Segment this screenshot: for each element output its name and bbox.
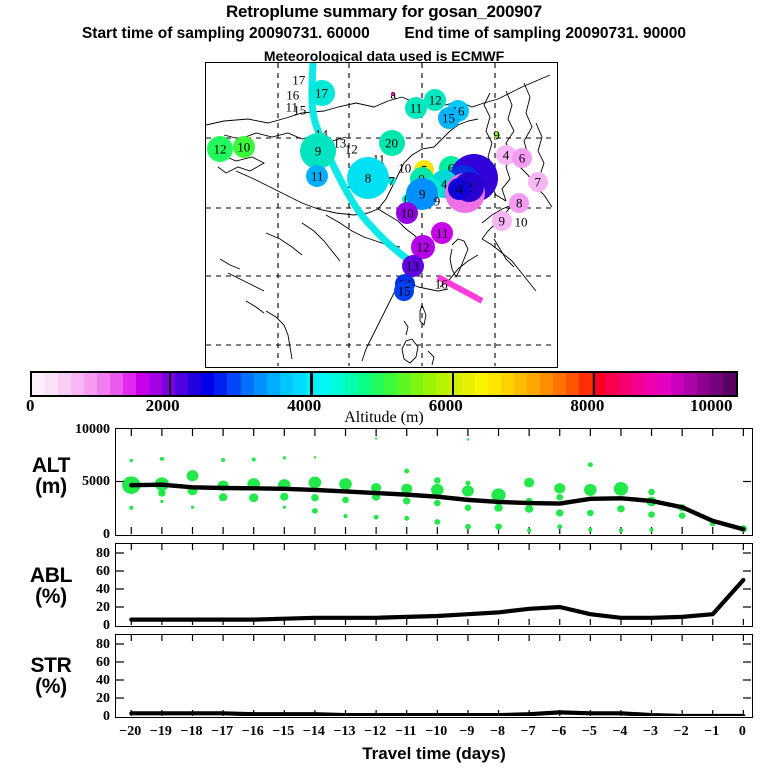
colorbar-title: Altitude (m) [0, 409, 768, 427]
map-marker-label: 4 [503, 149, 510, 162]
colorbar-swatch [110, 373, 123, 395]
map-marker-label: 17 [292, 73, 305, 86]
x-tick-label: −8 [490, 724, 505, 740]
x-tick-label: −2 [674, 724, 689, 740]
colorbar-swatch [267, 373, 280, 395]
map-marker-label: 9 [315, 144, 322, 157]
map-marker-label: a [390, 88, 396, 101]
colorbar-swatch [488, 373, 501, 395]
colorbar-swatch [71, 373, 84, 395]
colorbar-swatch [332, 373, 345, 395]
colorbar-swatch [644, 373, 657, 395]
colorbar-swatch [97, 373, 110, 395]
x-tick-label: −6 [551, 724, 566, 740]
colorbar-swatch [123, 373, 136, 395]
colorbar-swatch [397, 373, 410, 395]
map-marker-label: 9 [419, 187, 426, 200]
x-tick-label: −19 [150, 724, 172, 740]
str-plot-svg [116, 635, 751, 716]
colorbar-swatch [697, 373, 710, 395]
colorbar-swatch [710, 373, 723, 395]
str-y-tick-label: 60 [96, 655, 110, 671]
colorbar-swatch [84, 373, 97, 395]
map-marker-label: 15 [398, 284, 411, 297]
alt-y-tick-label: 0 [103, 527, 110, 543]
abl-y-tick-label: 80 [96, 546, 110, 562]
abl-y-tick-label: 20 [96, 600, 110, 616]
map-marker-label: 11 [410, 101, 423, 114]
colorbar-swatch [436, 373, 449, 395]
x-tick-label: −12 [364, 724, 386, 740]
colorbar-swatch [658, 373, 671, 395]
colorbar-swatch [514, 373, 527, 395]
x-tick-label: −3 [643, 724, 658, 740]
abl-plot-panel[interactable] [115, 543, 753, 627]
colorbar-swatch [605, 373, 618, 395]
colorbar-swatch [45, 373, 58, 395]
map-marker-label: 10 [237, 140, 250, 153]
map-marker-label: 7 [535, 175, 542, 188]
colorbar-swatch [175, 373, 188, 395]
colorbar-swatch [631, 373, 644, 395]
map-marker-label: 10 [515, 216, 528, 229]
x-tick-label: −14 [303, 724, 325, 740]
colorbar-swatch [136, 373, 149, 395]
str-y-tick-label: 20 [96, 691, 110, 707]
colorbar-swatch [371, 373, 384, 395]
colorbar-swatch [280, 373, 293, 395]
colorbar-swatch [566, 373, 579, 395]
colorbar-swatch [553, 373, 566, 395]
colorbar-swatch [319, 373, 332, 395]
str-y-tick-label: 80 [96, 637, 110, 653]
colorbar-swatch [293, 373, 306, 395]
map-marker-label: 12 [417, 241, 430, 254]
colorbar-divider [593, 371, 595, 397]
colorbar-swatch [214, 373, 227, 395]
colorbar-divider [169, 371, 171, 397]
map-marker-label: 16 [435, 278, 448, 291]
map-marker-label: 8 [516, 197, 523, 210]
colorbar-swatch [671, 373, 684, 395]
x-tick-label: −20 [119, 724, 141, 740]
map-marker-label: 4 [456, 182, 463, 195]
alt-plot-panel[interactable] [115, 428, 753, 536]
colorbar-divider [452, 371, 454, 397]
colorbar-swatch [723, 373, 736, 395]
colorbar-swatch [254, 373, 267, 395]
colorbar-swatch [345, 373, 358, 395]
colorbar-gradient [30, 371, 738, 397]
colorbar-swatch [410, 373, 423, 395]
map-marker-label: 12 [214, 142, 227, 155]
map-marker-label: 9 [499, 214, 506, 227]
alt-y-tick-label: 5000 [82, 474, 110, 490]
page-title: Retroplume summary for gosan_200907 [0, 2, 768, 22]
x-tick-label: −4 [612, 724, 627, 740]
x-tick-label: −18 [181, 724, 203, 740]
map-marker-label: 7 [388, 175, 395, 188]
sampling-time-row: Start time of sampling 20090731. 60000 E… [0, 25, 768, 43]
altitude-colorbar[interactable] [30, 371, 738, 397]
map-marker-label: 20 [385, 137, 398, 150]
str-plot-panel[interactable] [115, 634, 753, 718]
map-marker-label: 11 [311, 169, 324, 182]
x-tick-label: −10 [425, 724, 447, 740]
map-marker-label: 8 [365, 171, 372, 184]
x-tick-label: 0 [739, 724, 746, 740]
colorbar-divider [310, 371, 312, 397]
colorbar-swatch [423, 373, 436, 395]
map-marker-label: 9 [493, 128, 500, 141]
colorbar-swatch [188, 373, 201, 395]
alt-y-tick-label: 10000 [75, 422, 110, 438]
map-marker-label: 6 [519, 151, 526, 164]
map-marker-label: 10 [401, 206, 414, 219]
colorbar-swatch [475, 373, 488, 395]
map-marker-label: 13 [406, 260, 419, 273]
map-marker-label: 10 [398, 162, 411, 175]
x-tick-label: −17 [211, 724, 233, 740]
x-tick-label: −5 [582, 724, 597, 740]
str-y-tick-label: 0 [103, 709, 110, 725]
abl-y-tick-label: 60 [96, 564, 110, 580]
x-axis-title: Travel time (days) [115, 744, 753, 764]
x-tick-label: −13 [334, 724, 356, 740]
abl-y-tick-label: 0 [103, 618, 110, 634]
colorbar-swatch [618, 373, 631, 395]
str-row-label: STR(%) [8, 655, 94, 698]
retroplume-map[interactable]: 17161715141312a1112161591210920111181056… [205, 62, 558, 368]
map-marker-label: 17 [315, 87, 328, 100]
x-tick-label: −9 [459, 724, 474, 740]
x-tick-label: −11 [395, 724, 416, 740]
map-marker-label: 11 [436, 226, 449, 239]
x-tick-label: −15 [272, 724, 294, 740]
str-y-tick-label: 40 [96, 673, 110, 689]
end-time-label: End time of sampling 20090731. 90000 [404, 25, 686, 43]
alt-plot-svg [116, 429, 751, 534]
colorbar-swatch [227, 373, 240, 395]
abl-plot-svg [116, 544, 751, 625]
colorbar-swatch [32, 373, 45, 395]
colorbar-swatch [527, 373, 540, 395]
colorbar-swatch [462, 373, 475, 395]
colorbar-swatch [540, 373, 553, 395]
colorbar-swatch [501, 373, 514, 395]
map-marker-label: 12 [345, 143, 358, 156]
colorbar-swatch [58, 373, 71, 395]
colorbar-swatch [579, 373, 592, 395]
colorbar-swatch [358, 373, 371, 395]
x-tick-label: −1 [704, 724, 719, 740]
abl-y-tick-label: 40 [96, 582, 110, 598]
x-tick-label: −16 [242, 724, 264, 740]
colorbar-swatch [684, 373, 697, 395]
x-tick-label: −7 [521, 724, 536, 740]
map-marker-label: 12 [429, 93, 442, 106]
colorbar-swatch [384, 373, 397, 395]
colorbar-swatch [241, 373, 254, 395]
colorbar-swatch [149, 373, 162, 395]
start-time-label: Start time of sampling 20090731. 60000 [82, 25, 370, 43]
map-marker-label: 15 [442, 112, 455, 125]
colorbar-swatch [201, 373, 214, 395]
abl-row-label: ABL(%) [8, 565, 94, 608]
map-marker-label: 11 [285, 100, 298, 113]
map-marker-label: 9 [434, 194, 441, 207]
